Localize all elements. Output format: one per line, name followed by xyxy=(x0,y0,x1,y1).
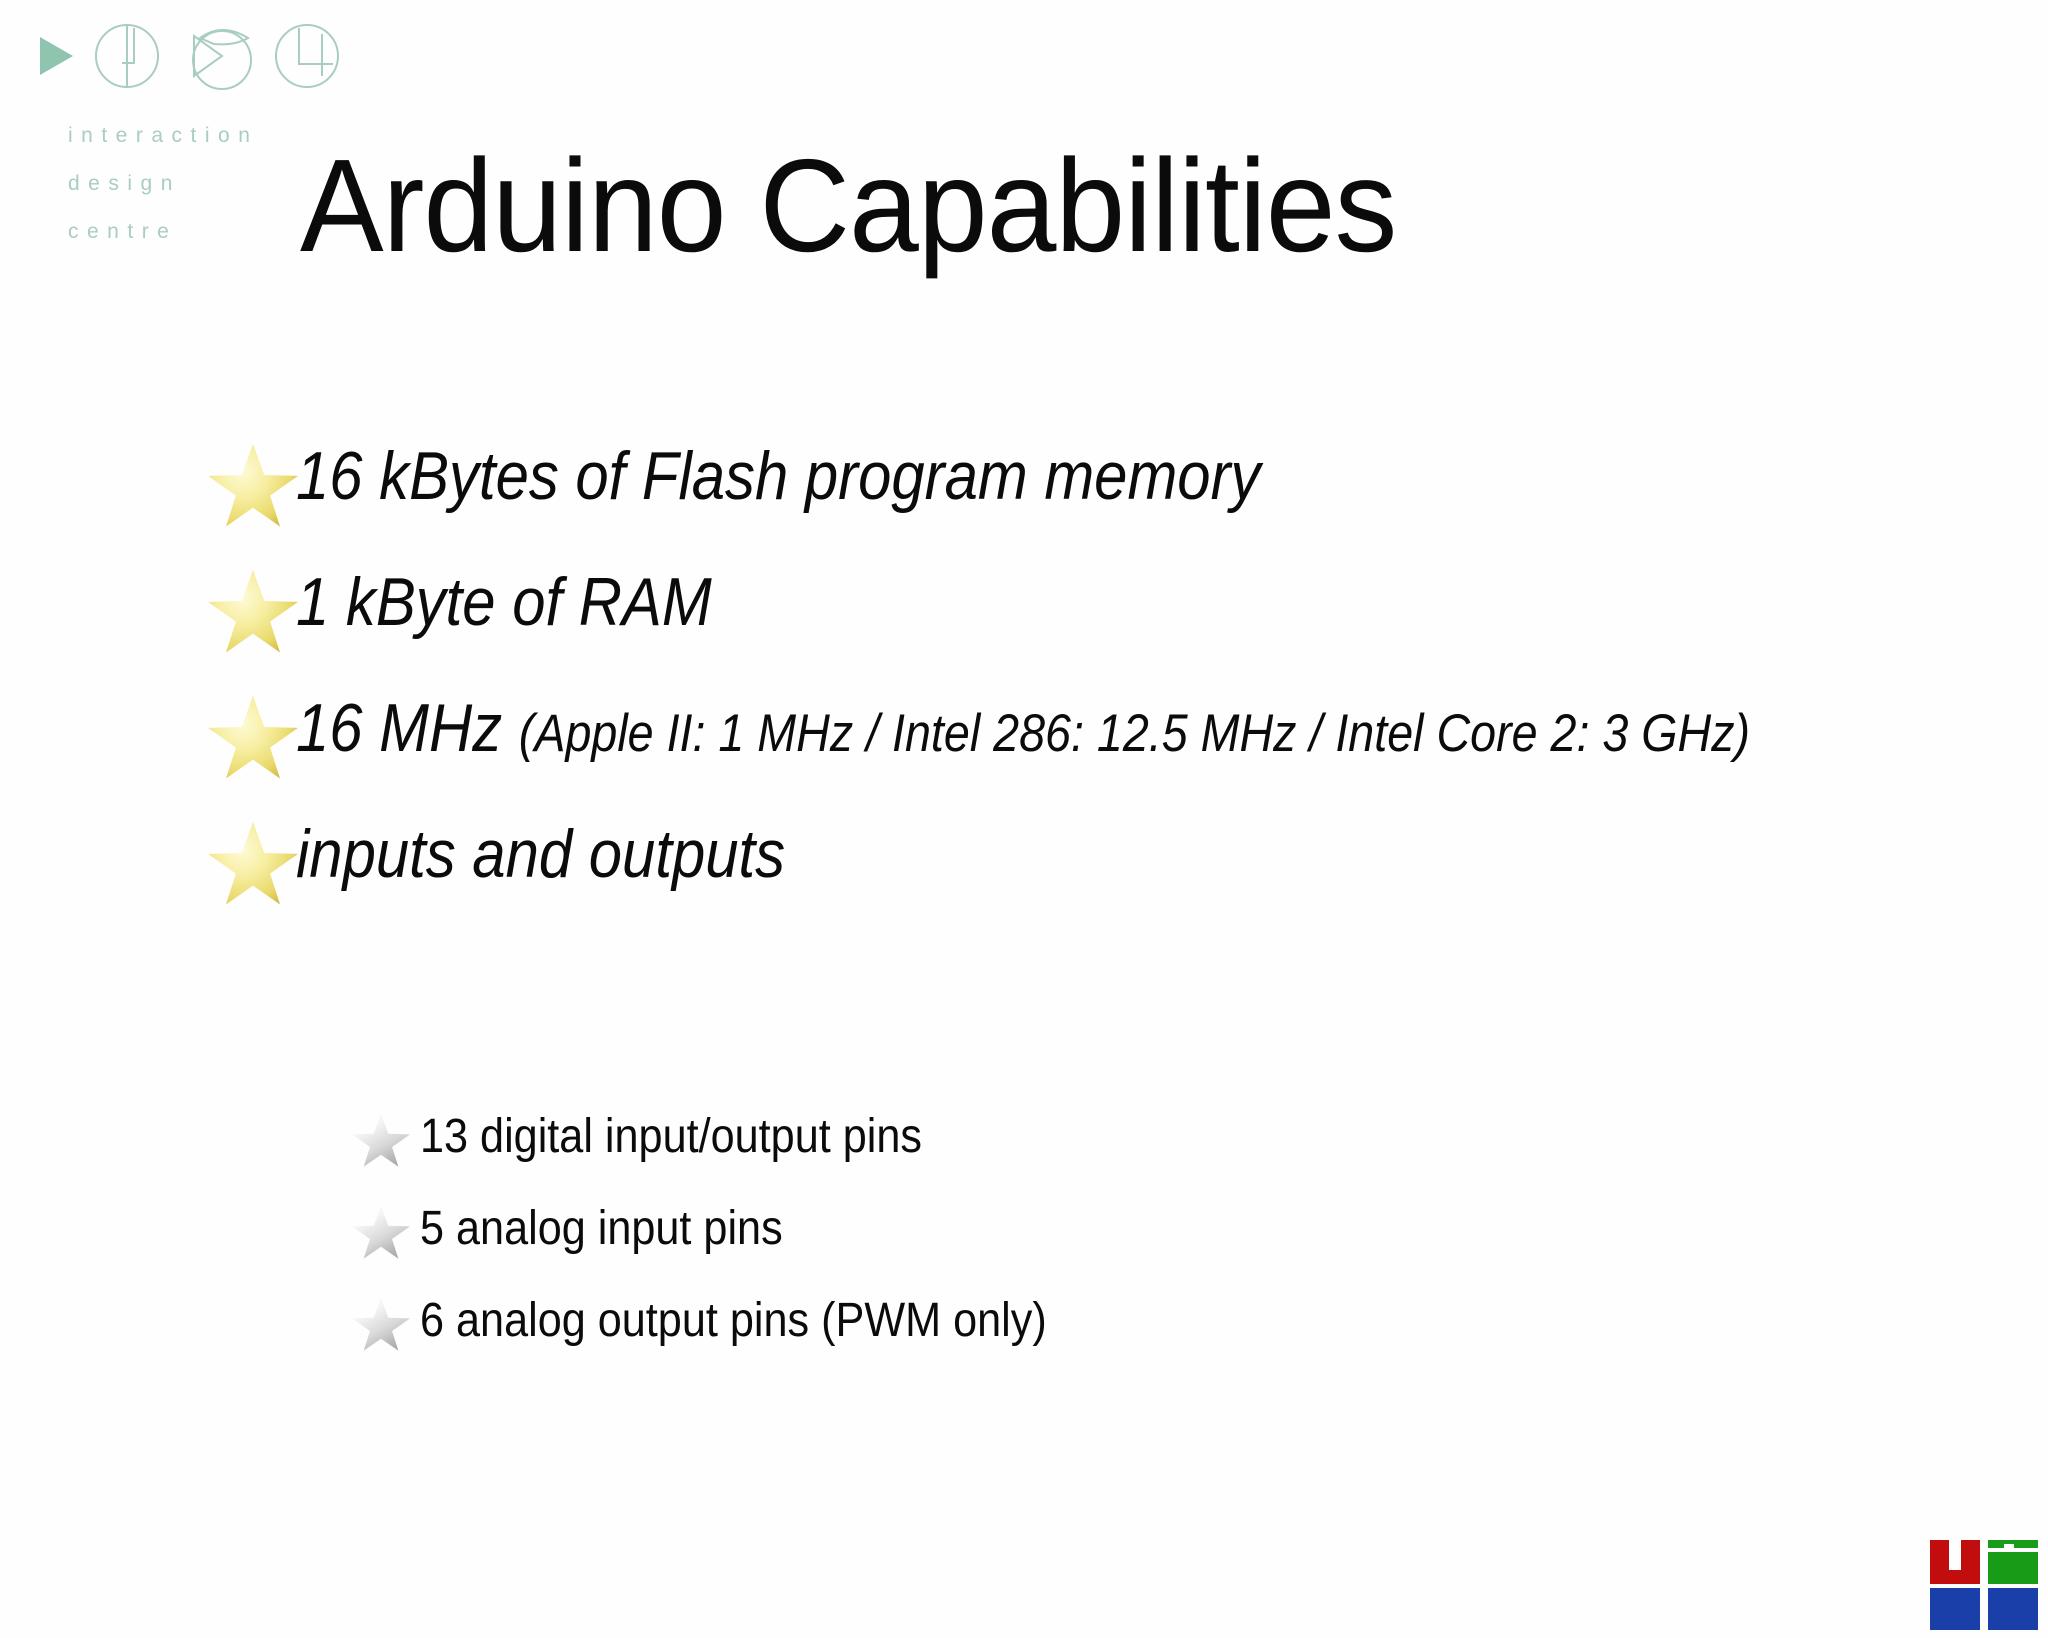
gold-star-icon xyxy=(208,570,298,656)
university-of-limerick-logo xyxy=(1930,1540,2040,1630)
gold-star-icon xyxy=(208,696,298,782)
notched-block-green-body xyxy=(1988,1552,2038,1584)
filled-wedge-glyph xyxy=(40,37,73,75)
square-blue-left xyxy=(1930,1588,1980,1630)
page-title: Arduino Capabilities xyxy=(300,140,1725,272)
interaction-design-centre-logo: interaction design centre xyxy=(26,10,346,240)
square-blue-right xyxy=(1988,1588,2038,1630)
sub-bullet-label: 13 digital input/output pins xyxy=(420,1108,1705,1166)
silver-star-icon xyxy=(352,1206,410,1261)
list-item: 5 analog input pins xyxy=(348,1200,1848,1262)
circle-wedge-glyph xyxy=(193,30,251,89)
sub-bullet-label: 6 analog output pins (PWM only) xyxy=(420,1292,1705,1350)
io-sublist: 13 digital input/output pins 5 analog in… xyxy=(348,1108,1848,1384)
gold-star-icon xyxy=(208,822,298,908)
list-item: 16 MHz (Apple II: 1 MHz / Intel 286: 12.… xyxy=(200,682,2000,782)
slide-canvas: interaction design centre Arduino Capabi… xyxy=(0,0,2048,1638)
bullet-label: 1 kByte of RAM xyxy=(296,556,1796,650)
sub-bullet-label: 5 analog input pins xyxy=(420,1200,1705,1258)
gold-star-icon xyxy=(208,444,298,530)
circle-quadrant-glyph xyxy=(276,25,338,87)
bullet-label: 16 kBytes of Flash program memory xyxy=(296,430,1796,524)
silver-star-icon xyxy=(352,1114,410,1169)
list-item: 1 kByte of RAM xyxy=(200,556,2000,656)
notched-block-green-top xyxy=(1988,1540,2038,1548)
list-item: inputs and outputs xyxy=(200,808,2000,908)
list-item: 6 analog output pins (PWM only) xyxy=(348,1292,1848,1354)
bullet-label-parenthetical: (Apple II: 1 MHz / Intel 286: 12.5 MHz /… xyxy=(519,704,1750,763)
ul-logo-svg xyxy=(1930,1540,2040,1630)
circle-split-glyph xyxy=(96,25,158,87)
list-item: 16 kBytes of Flash program memory xyxy=(200,430,2000,530)
u-block-red xyxy=(1930,1540,1980,1584)
bullet-label-main: 16 MHz xyxy=(296,690,519,766)
idc-logo-marks xyxy=(26,18,346,93)
bullet-label: inputs and outputs xyxy=(296,808,1796,902)
bullet-label: 16 MHz (Apple II: 1 MHz / Intel 286: 12.… xyxy=(296,682,1796,776)
capabilities-list: 16 kBytes of Flash program memory 1 kByt… xyxy=(200,430,2000,934)
list-item: 13 digital input/output pins xyxy=(348,1108,1848,1170)
silver-star-icon xyxy=(352,1298,410,1353)
